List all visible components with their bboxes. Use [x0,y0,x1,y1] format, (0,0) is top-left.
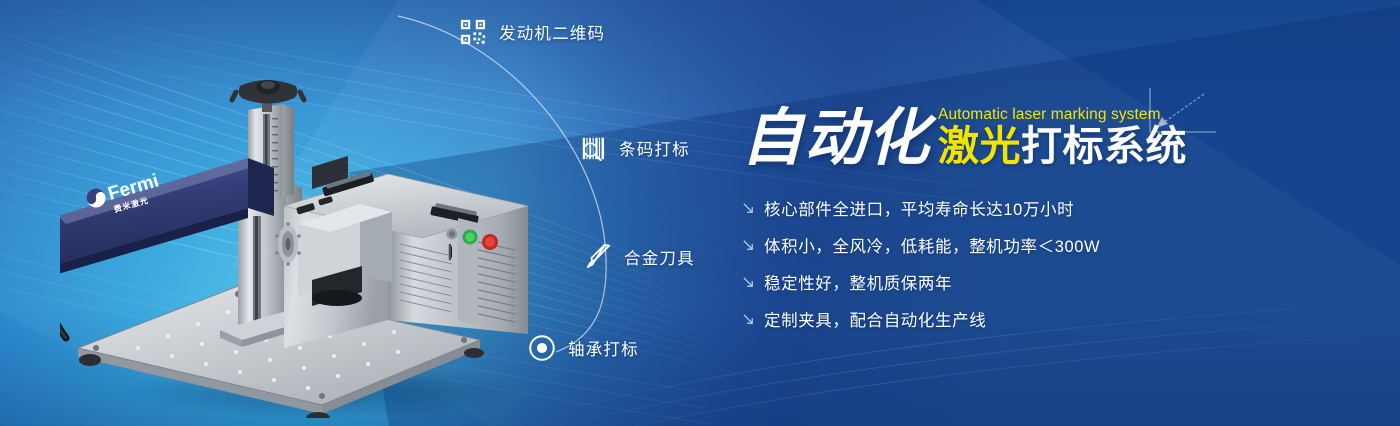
callout-label: 合金刀具 [624,245,695,269]
corner-bracket-decoration [1146,86,1220,138]
bullet-text: 体积小，全风冷，低耗能，整机功率＜300W [764,233,1100,257]
feature-bullet-list: 核心部件全进口，平均寿命长达10万小时 体积小，全风冷，低耗能，整机功率＜300… [741,196,1241,331]
arrow-down-right-icon [741,275,755,289]
alloy-knife-icon [583,242,613,272]
arrow-down-right-icon [741,201,755,215]
callout-label: 发动机二维码 [499,20,605,44]
bullet-item: 体积小，全风冷，低耗能，整机功率＜300W [741,233,1241,257]
callout-alloy-tool[interactable]: 合金刀具 [583,242,695,272]
bearing-ring-icon [527,333,557,363]
callout-label: 轴承打标 [568,336,639,360]
bullet-text: 核心部件全进口，平均寿命长达10万小时 [764,196,1074,220]
machine-illustration: Fermi 费米激光 [60,48,580,418]
bullet-item: 稳定性好，整机质保两年 [741,270,1241,294]
headline-subtitle-highlight: 激光 [938,123,1021,169]
headline-main: 自动化 [741,108,930,170]
promo-banner: Fermi 费米激光 [0,0,1400,426]
bullet-text: 定制夹具，配合自动化生产线 [764,307,986,331]
arrow-down-right-icon [741,312,755,326]
callout-bearing[interactable]: 轴承打标 [527,333,639,363]
callout-qr-code[interactable]: 发动机二维码 [458,17,605,47]
arrow-down-right-icon [741,238,755,252]
bullet-text: 稳定性好，整机质保两年 [764,270,952,294]
bullet-item: 定制夹具，配合自动化生产线 [741,307,1241,331]
laser-marking-machine: Fermi 费米激光 [60,48,580,418]
bullet-item: 核心部件全进口，平均寿命长达10万小时 [741,196,1241,220]
qr-code-icon [458,17,488,47]
callout-label: 条码打标 [619,136,690,160]
callout-barcode[interactable]: 条码打标 [578,133,690,163]
barcode-scan-icon [578,133,608,163]
